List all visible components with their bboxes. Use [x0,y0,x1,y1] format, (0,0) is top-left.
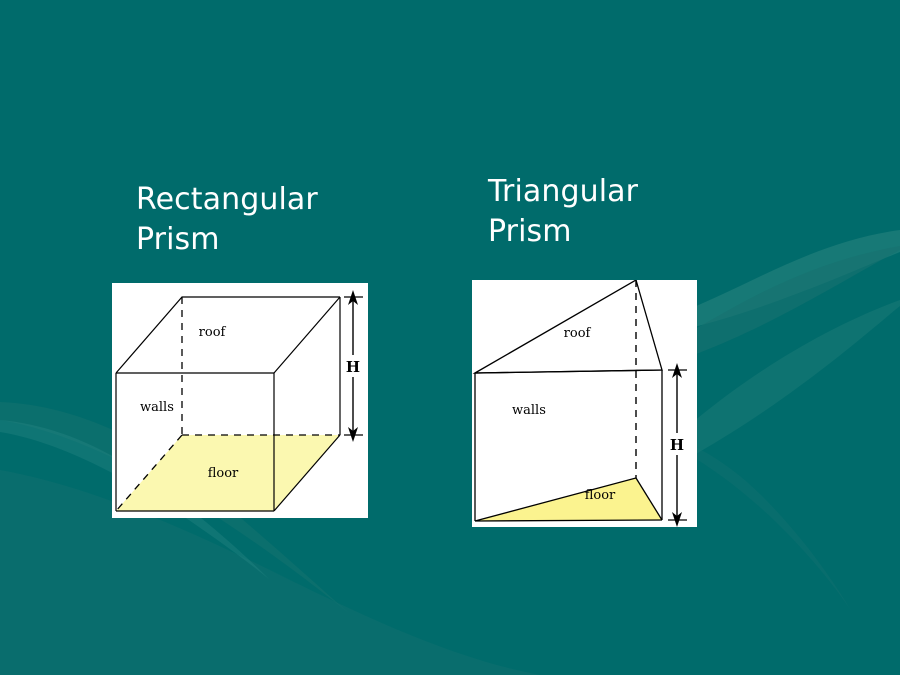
figure-rectangular-prism: roof walls floor H [112,283,368,518]
rect-label-walls: walls [140,400,174,415]
rect-label-height: H [346,358,360,376]
triangular-prism-drawing: roof walls floor H [472,280,697,527]
heading-triangular-prism: Triangular Prism [488,172,768,251]
heading-rectangular-prism: Rectangular Prism [136,180,436,259]
rectangular-prism-drawing: roof walls floor H [112,283,368,518]
tri-label-height: H [670,436,684,454]
tri-label-walls: walls [512,403,546,418]
tri-label-floor: floor [585,488,616,503]
slide-canvas: Rectangular Prism Triangular Prism roof … [0,0,900,675]
figure-triangular-prism: roof walls floor H [472,280,697,527]
rect-label-roof: roof [199,325,227,340]
tri-label-roof: roof [564,326,592,341]
rect-label-floor: floor [208,466,239,481]
